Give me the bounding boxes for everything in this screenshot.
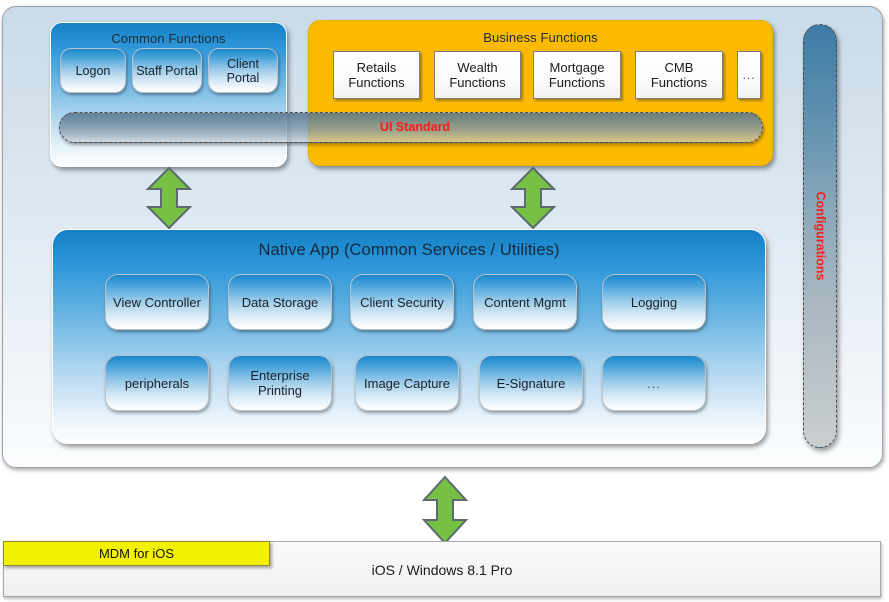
ui-standard-label: UI Standard (375, 120, 455, 134)
native-service-image-capture[interactable]: Image Capture (355, 355, 459, 411)
configurations-bar[interactable]: Configurations (803, 24, 837, 448)
common-functions-title: Common Functions (51, 31, 286, 46)
common-function-staff-portal[interactable]: Staff Portal (132, 48, 202, 93)
common-function-client-portal[interactable]: Client Portal (208, 48, 278, 93)
native-service-content-mgmt-label: Content Mgmt (484, 295, 566, 310)
double-arrow-vertical-icon (422, 476, 468, 544)
native-service-more[interactable]: ... (602, 355, 706, 411)
connector-common-to-native (146, 167, 192, 229)
business-function-wealth-label: Wealth Functions (435, 60, 520, 90)
native-service-more-label: ... (647, 376, 661, 391)
business-function-cmb-label: CMB Functions (636, 60, 722, 90)
mdm-for-ios-label: MDM for iOS (99, 546, 174, 561)
architecture-diagram: Common Functions Logon Staff Portal Clie… (0, 0, 889, 602)
configurations-label: Configurations (813, 192, 827, 281)
native-service-logging-label: Logging (631, 295, 677, 310)
native-service-data-storage[interactable]: Data Storage (228, 274, 332, 330)
native-service-image-capture-label: Image Capture (364, 376, 450, 391)
business-functions-title: Business Functions (309, 30, 772, 45)
native-service-enterprise-printing[interactable]: Enterprise Printing (228, 355, 332, 411)
native-service-e-signature[interactable]: E-Signature (479, 355, 583, 411)
common-functions-panel[interactable]: Common Functions (50, 22, 287, 167)
native-service-view-controller[interactable]: View Controller (105, 274, 209, 330)
native-service-view-controller-label: View Controller (113, 295, 201, 310)
business-function-mortgage-label: Mortgage Functions (534, 60, 620, 90)
common-function-client-portal-label: Client Portal (212, 57, 274, 85)
business-function-more-label: ... (742, 68, 755, 83)
business-function-retails-label: Retails Functions (334, 60, 419, 90)
native-app-title: Native App (Common Services / Utilities) (53, 241, 765, 260)
native-service-client-security-label: Client Security (360, 295, 444, 310)
common-function-logon[interactable]: Logon (60, 48, 126, 93)
business-function-mortgage[interactable]: Mortgage Functions (533, 51, 621, 99)
native-service-client-security[interactable]: Client Security (350, 274, 454, 330)
business-function-cmb[interactable]: CMB Functions (635, 51, 723, 99)
native-service-data-storage-label: Data Storage (242, 295, 319, 310)
business-function-retails[interactable]: Retails Functions (333, 51, 420, 99)
connector-client-to-platform (422, 476, 468, 544)
double-arrow-vertical-icon (146, 167, 192, 229)
native-service-enterprise-printing-label: Enterprise Printing (232, 368, 328, 398)
common-function-staff-portal-label: Staff Portal (136, 64, 198, 78)
mdm-for-ios-chip[interactable]: MDM for iOS (3, 541, 270, 566)
double-arrow-vertical-icon (510, 167, 556, 229)
business-function-more[interactable]: ... (737, 51, 761, 99)
connector-business-to-native (510, 167, 556, 229)
common-function-logon-label: Logon (76, 64, 111, 78)
native-service-peripherals[interactable]: peripherals (105, 355, 209, 411)
business-function-wealth[interactable]: Wealth Functions (434, 51, 521, 99)
native-service-content-mgmt[interactable]: Content Mgmt (473, 274, 577, 330)
native-service-e-signature-label: E-Signature (497, 376, 566, 391)
native-service-peripherals-label: peripherals (125, 376, 189, 391)
native-app-panel[interactable]: Native App (Common Services / Utilities) (52, 229, 766, 444)
native-service-logging[interactable]: Logging (602, 274, 706, 330)
